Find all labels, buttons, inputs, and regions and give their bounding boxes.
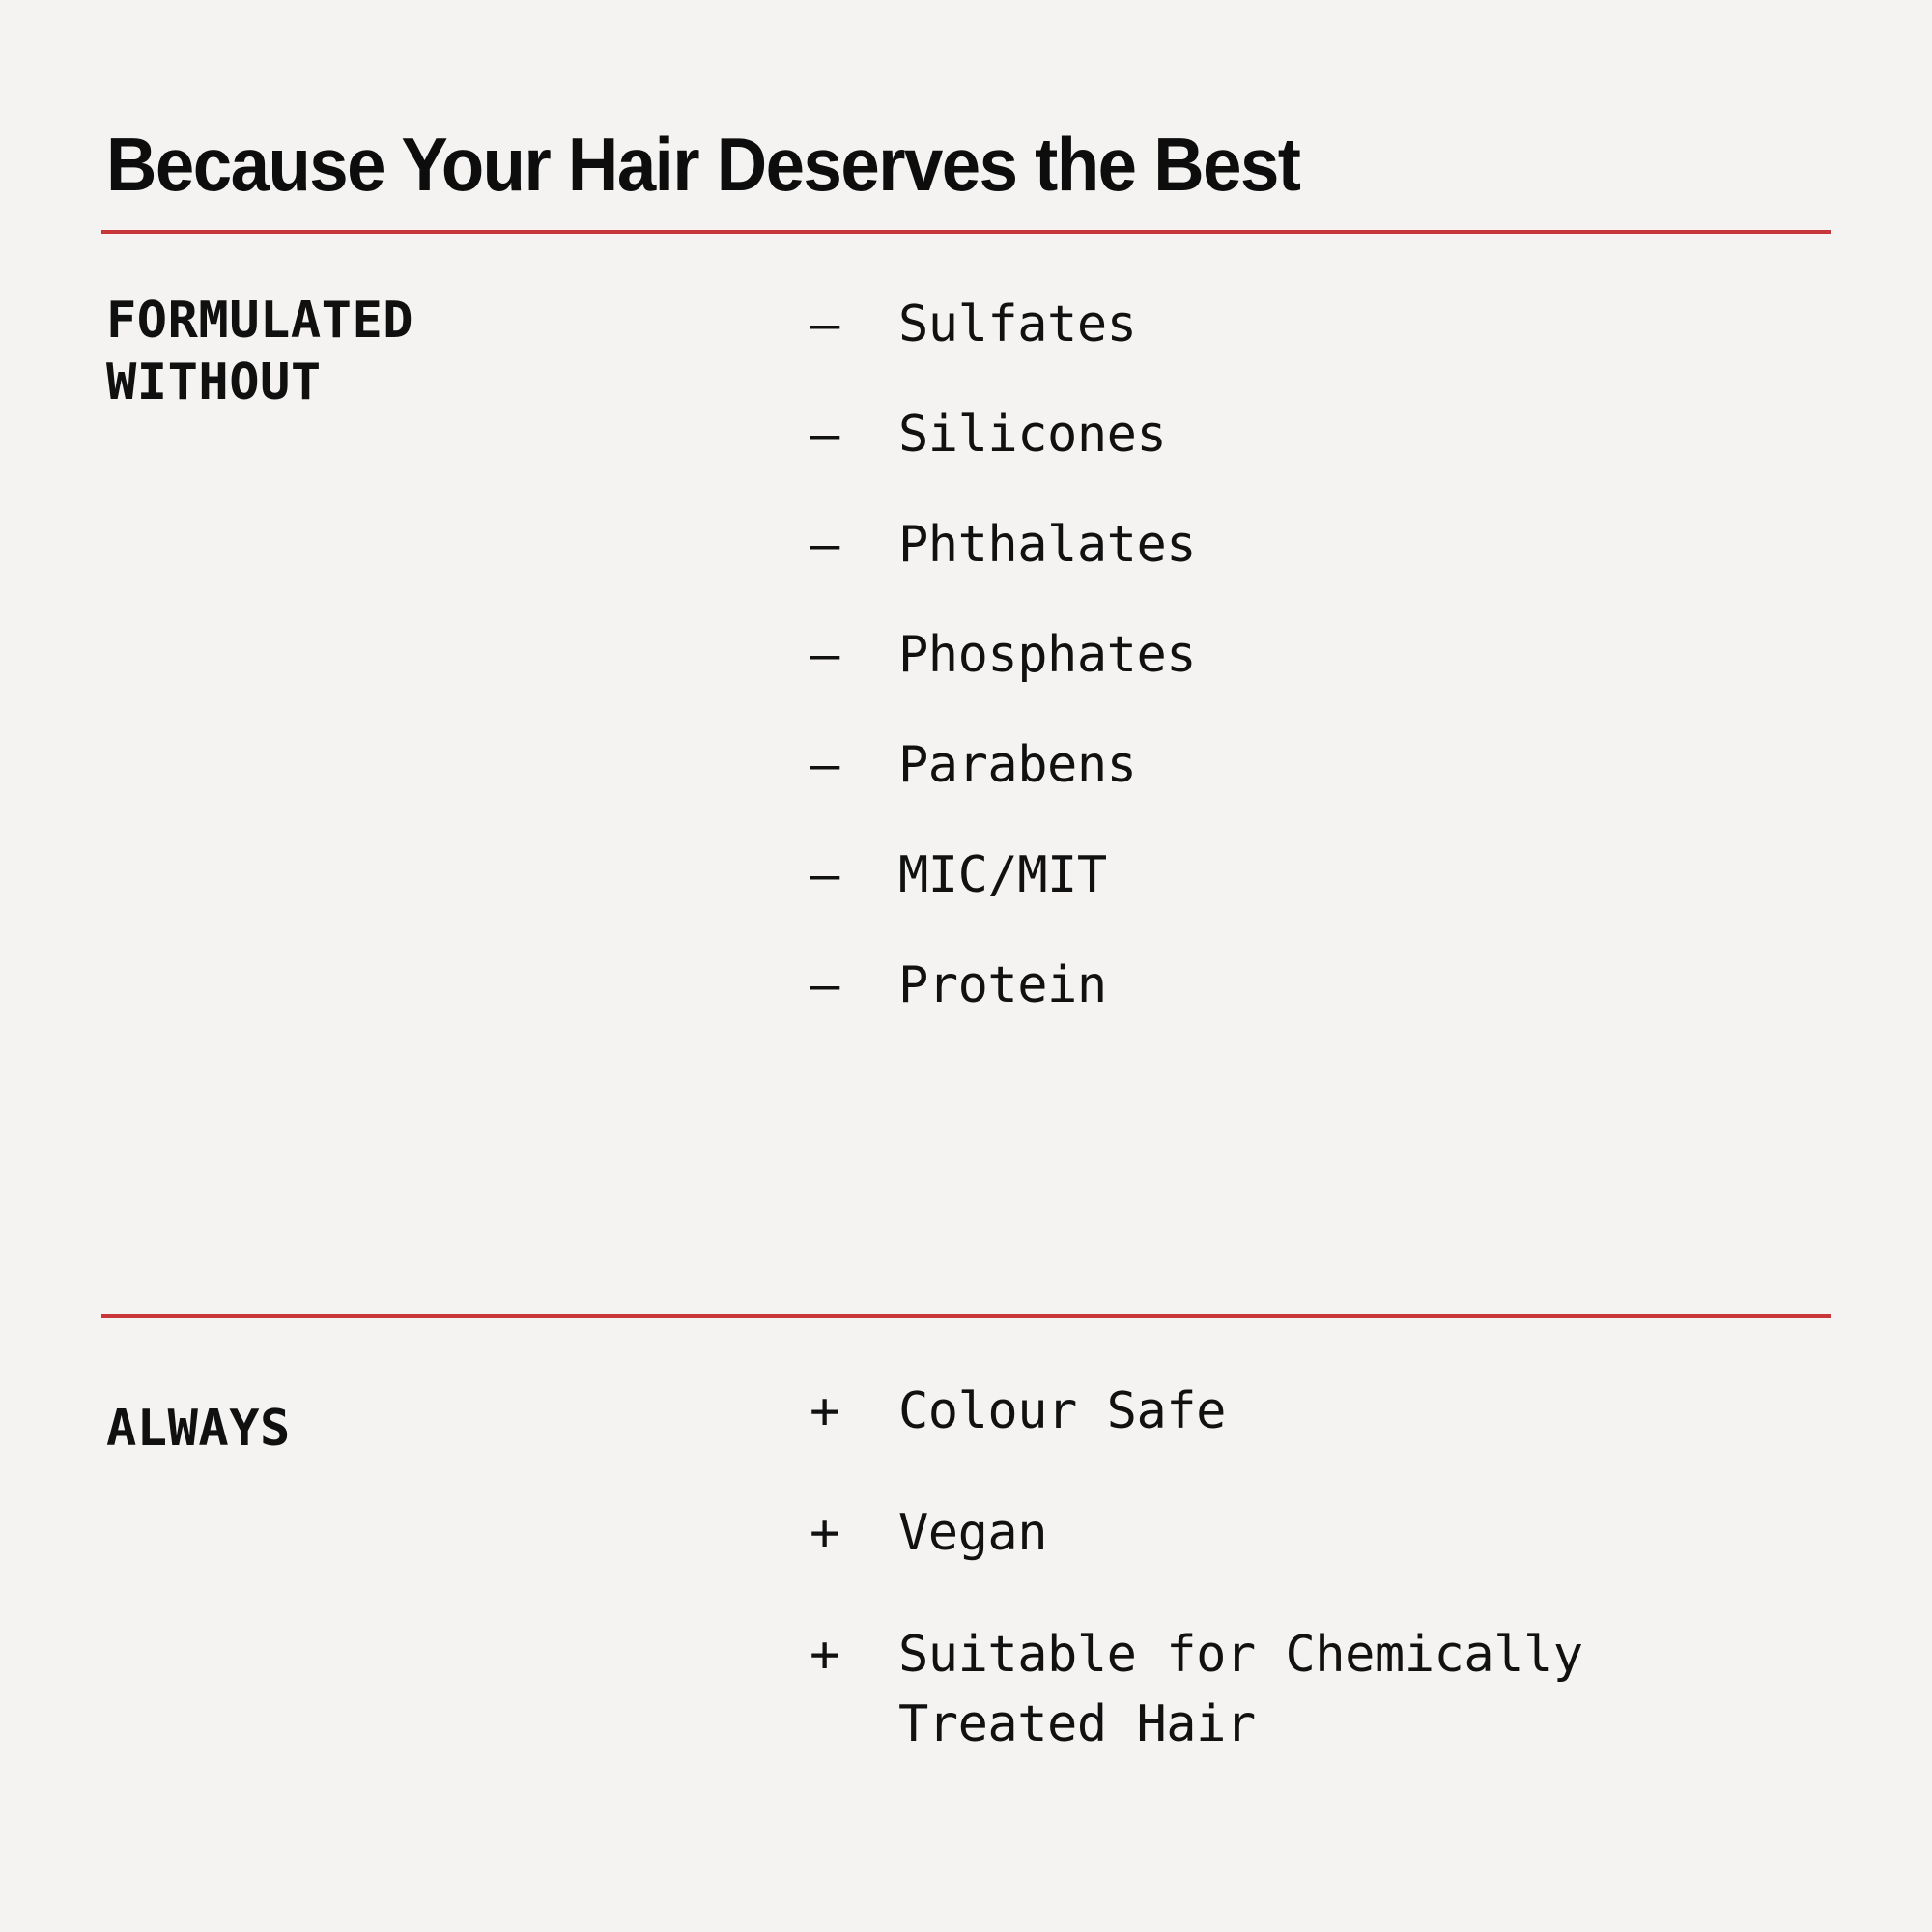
plus-marker-icon: + [810,1620,898,1690]
list-item-label: Parabens [898,730,1806,800]
plus-marker-icon: + [810,1377,898,1446]
minus-marker-icon: — [810,400,898,469]
list-item-label: Silicones [898,400,1806,469]
list-item: — Silicones [810,400,1872,469]
divider-top [101,230,1831,234]
minus-marker-icon: — [810,290,898,359]
section-label-always: ALWAYS [106,1398,589,1460]
list-item-label: Phthalates [898,510,1806,580]
list-item: — Protein [810,951,1872,1020]
list-item-label: Colour Safe [898,1377,1806,1446]
plus-marker-icon: + [810,1498,898,1568]
list-item: + Vegan [810,1498,1872,1568]
page-title: Because Your Hair Deserves the Best [106,118,1715,211]
divider-middle [101,1314,1831,1318]
list-item-label: Protein [898,951,1806,1020]
list-item: — MIC/MIT [810,840,1872,910]
list-item: + Colour Safe [810,1377,1872,1446]
list-item-label: Sulfates [898,290,1806,359]
list-item: — Phthalates [810,510,1872,580]
list-item-label: Vegan [898,1498,1806,1568]
list-item-label: Suitable for Chemically Treated Hair [898,1620,1806,1759]
list-item: — Phosphates [810,620,1872,690]
list-item-label: Phosphates [898,620,1806,690]
minus-marker-icon: — [810,510,898,580]
formulated-without-list: — Sulfates — Silicones — Phthalates — Ph… [810,290,1872,1061]
list-item: + Suitable for Chemically Treated Hair [810,1620,1872,1759]
minus-marker-icon: — [810,951,898,1020]
minus-marker-icon: — [810,840,898,910]
always-list: + Colour Safe + Vegan + Suitable for Che… [810,1377,1872,1811]
list-item-label: MIC/MIT [898,840,1806,910]
list-item: — Sulfates [810,290,1872,359]
minus-marker-icon: — [810,730,898,800]
minus-marker-icon: — [810,620,898,690]
benefits-panel: Because Your Hair Deserves the Best FORM… [0,0,1932,1932]
section-label-formulated-without: FORMULATED WITHOUT [106,290,589,413]
list-item: — Parabens [810,730,1872,800]
